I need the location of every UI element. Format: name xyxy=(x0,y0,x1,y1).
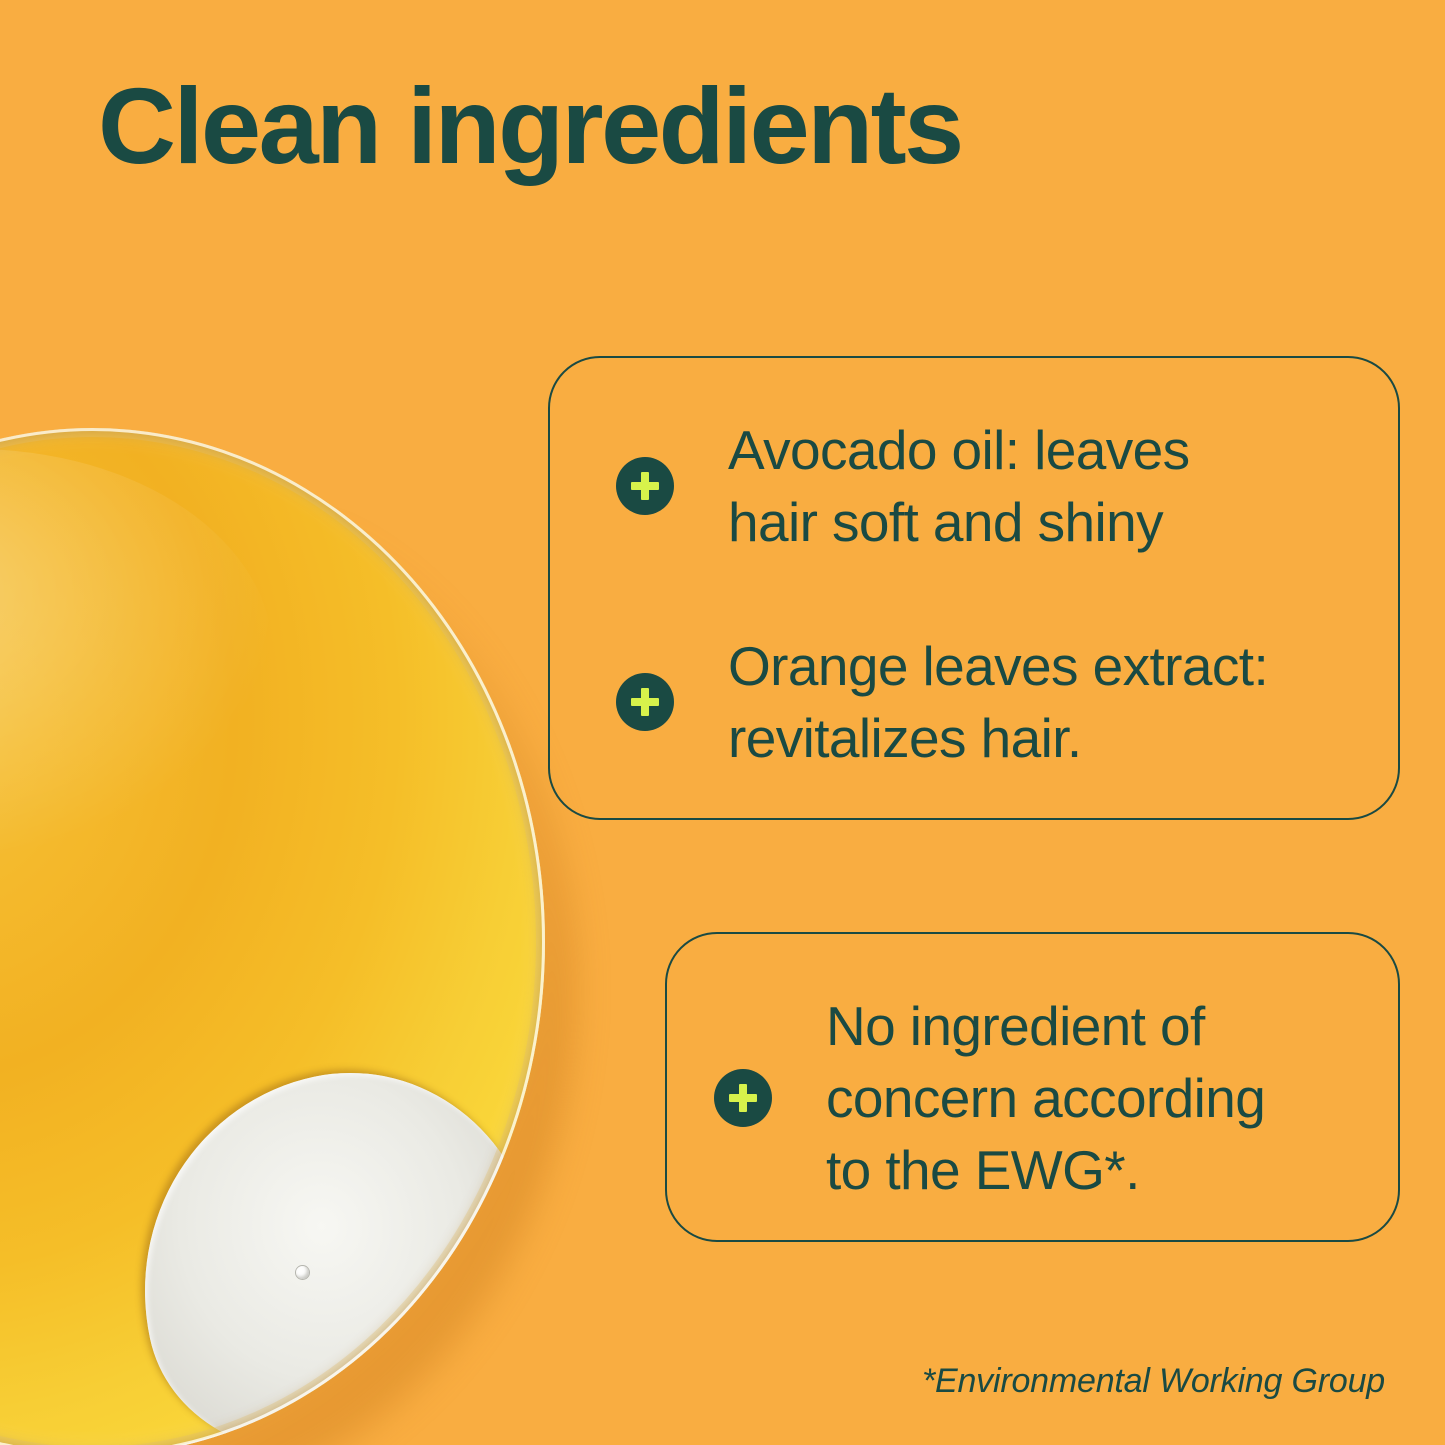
bullet-avocado-oil: Avocado oil: leaves hair soft and shiny xyxy=(616,414,1190,558)
dish-glass-base xyxy=(0,428,545,1445)
plus-icon xyxy=(616,673,674,731)
bullet-avocado-oil-label: Avocado oil: leaves hair soft and shiny xyxy=(728,414,1190,558)
petri-dish-photo xyxy=(0,0,620,1445)
oil-pool xyxy=(0,428,545,1445)
dish-sheen-highlight xyxy=(0,449,273,860)
bullet-orange-leaves-extract: Orange leaves extract: revitalizes hair. xyxy=(616,630,1268,774)
plus-icon xyxy=(616,457,674,515)
footnote-ewg-definition: *Environmental Working Group xyxy=(922,1362,1385,1401)
plus-icon xyxy=(714,1069,772,1127)
petri-dish xyxy=(0,428,545,1445)
page-title: Clean ingredients xyxy=(98,72,962,180)
bullet-orange-leaves-extract-label: Orange leaves extract: revitalizes hair. xyxy=(728,630,1268,774)
ingredients-infographic: Clean ingredients Avocado oil: leaves ha… xyxy=(0,0,1445,1445)
bullet-no-ingredient-of-concern-label: No ingredient of concern according to th… xyxy=(826,990,1265,1206)
oil-void-lower-right xyxy=(104,1038,545,1445)
air-bubble xyxy=(296,1266,309,1279)
dish-rim-outer xyxy=(0,428,545,1445)
dish-rim-inner xyxy=(0,428,545,1445)
bullet-no-ingredient-of-concern: No ingredient of concern according to th… xyxy=(714,990,1265,1206)
dish-drop-shadow xyxy=(0,470,576,1445)
